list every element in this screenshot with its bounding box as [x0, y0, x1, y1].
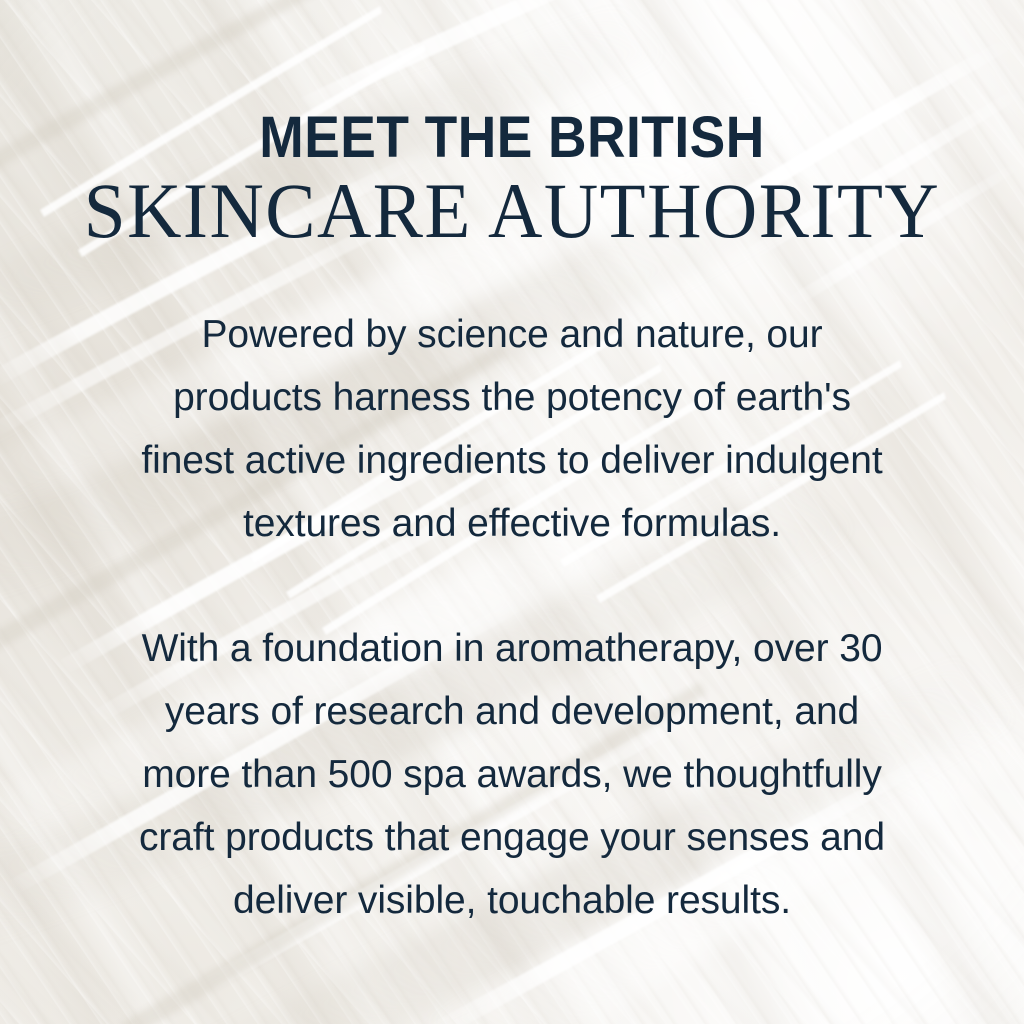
poster-content: MEET THE BRITISH SKINCARE AUTHORITY Powe…	[0, 0, 1024, 1024]
paragraph-line: finest active ingredients to deliver ind…	[0, 429, 1024, 492]
paragraph-heritage: With a foundation in aromatherapy, over …	[0, 617, 1024, 932]
headline-line-two: SKINCARE AUTHORITY	[5, 169, 1019, 253]
paragraph-line: years of research and development, and	[0, 680, 1024, 743]
paragraph-line: more than 500 spa awards, we thoughtfull…	[0, 743, 1024, 806]
paragraph-line: deliver visible, touchable results.	[0, 869, 1024, 932]
paragraph-intro: Powered by science and nature, our produ…	[0, 303, 1024, 555]
paragraph-line: craft products that engage your senses a…	[0, 806, 1024, 869]
brand-story-poster: MEET THE BRITISH SKINCARE AUTHORITY Powe…	[0, 0, 1024, 1024]
paragraph-line: products harness the potency of earth's	[0, 366, 1024, 429]
paragraph-line: Powered by science and nature, our	[0, 303, 1024, 366]
paragraph-line: textures and effective formulas.	[0, 492, 1024, 555]
headline-line-one: MEET THE BRITISH	[41, 108, 983, 168]
headline: MEET THE BRITISH SKINCARE AUTHORITY	[0, 108, 1024, 252]
paragraph-line: With a foundation in aromatherapy, over …	[0, 617, 1024, 680]
